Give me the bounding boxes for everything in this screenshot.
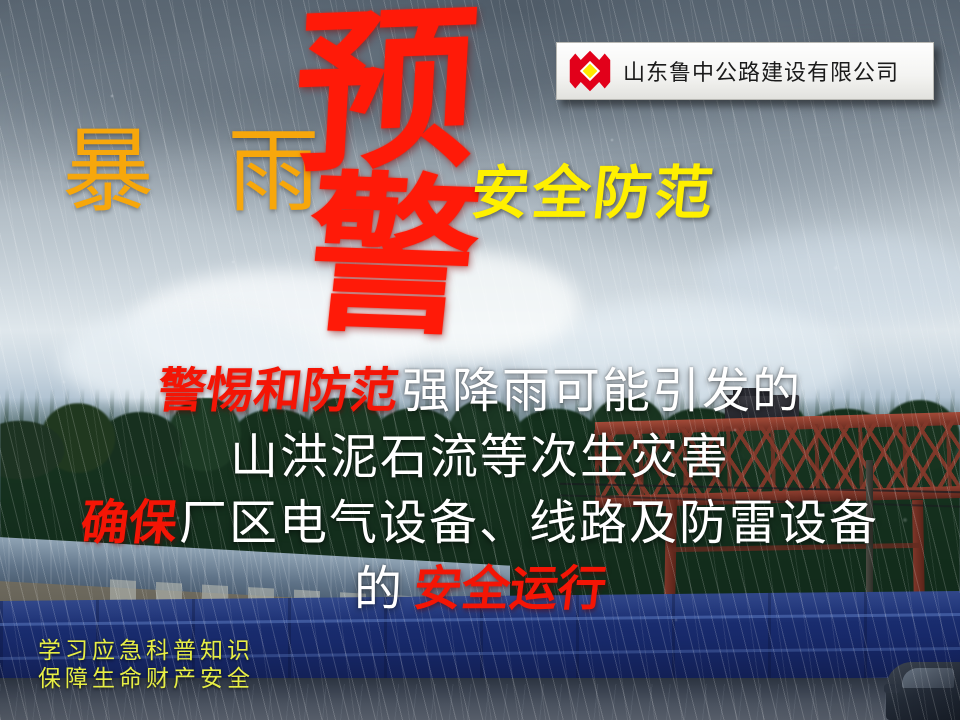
body-line-3: 确保厂区电气设备、线路及防雷设备 xyxy=(0,490,960,556)
bottom-slogan: 学习应急科普知识 保障生命财产安全 xyxy=(38,636,254,692)
body-line-3-red: 确保 xyxy=(77,490,181,556)
body-line-2-white: 山洪泥石流等次生灾害 xyxy=(230,429,730,485)
weather-warning-poster: 暴 雨 预 警 安全防范 警惕和防范强降雨可能引发的 山洪泥石流等次生灾害 确保… xyxy=(0,0,960,720)
subtitle-anquan-fangfan: 安全防范 xyxy=(468,146,721,230)
body-line-2: 山洪泥石流等次生灾害 xyxy=(0,424,960,490)
body-line-1-white: 强降雨可能引发的 xyxy=(402,363,802,419)
company-name: 山东鲁中公路建设有限公司 xyxy=(623,55,899,87)
body-line-4-white: 的 xyxy=(354,561,404,617)
body-text-block: 警惕和防范强降雨可能引发的 山洪泥石流等次生灾害 确保厂区电气设备、线路及防雷设… xyxy=(0,358,960,622)
body-line-1-red: 警惕和防范 xyxy=(154,358,402,424)
slogan-line-1: 学习应急科普知识 xyxy=(38,636,254,664)
body-line-4: 的安全运行 xyxy=(0,556,960,622)
text-overlay: 暴 雨 预 警 安全防范 警惕和防范强降雨可能引发的 山洪泥石流等次生灾害 确保… xyxy=(0,0,960,720)
title-char-jing: 警 xyxy=(298,176,486,339)
body-line-4-red: 安全运行 xyxy=(410,556,610,622)
title-char-yu: 预 xyxy=(290,7,481,175)
company-logo-plaque: 山东鲁中公路建设有限公司 xyxy=(556,42,934,100)
diamond-rhombus-logo-icon xyxy=(567,48,613,94)
body-line-3-white: 厂区电气设备、线路及防雷设备 xyxy=(179,495,879,551)
body-line-1: 警惕和防范强降雨可能引发的 xyxy=(0,358,960,424)
slogan-line-2: 保障生命财产安全 xyxy=(38,664,254,692)
